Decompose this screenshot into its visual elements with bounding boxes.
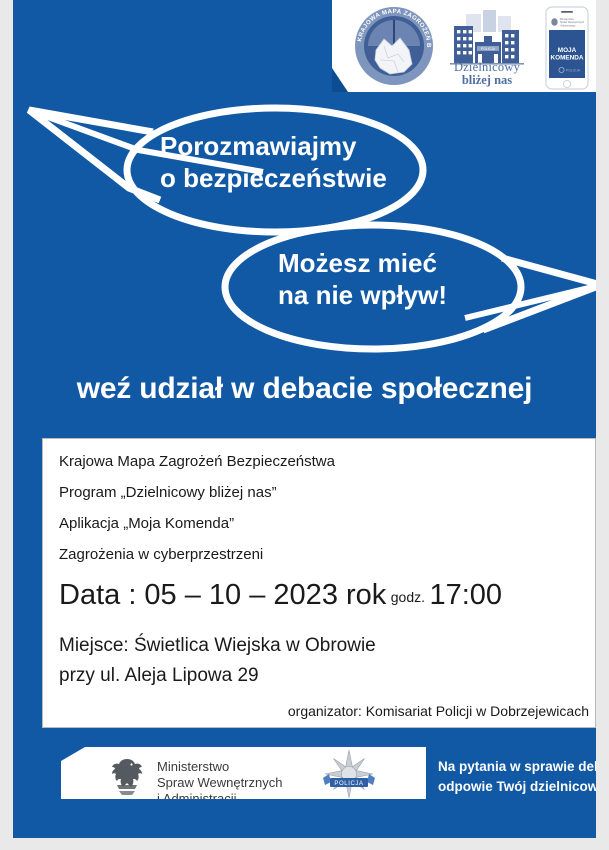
bubble-porozmawiajmy-text: Porozmawiajmy o bezpieczeństwie — [160, 130, 387, 194]
moja-komenda-logo: Ministerstwo Spraw Wewnętrznych i Admini… — [540, 6, 594, 90]
topic-item: Zagrożenia w cyberprzestrzeni — [59, 546, 263, 563]
footer-note-line-2: odpowie Twój dzielnicowy — [438, 777, 596, 797]
svg-text:POLICJA: POLICJA — [566, 69, 581, 73]
bubble2-line2: na nie wpływ! — [278, 279, 447, 311]
time-prefix-label: godz. — [391, 589, 425, 605]
bubble1-line2: o bezpieczeństwie — [160, 162, 387, 194]
krajowa-mapa-zagrozen-bezpieczenstwa-logo: KRAJOWA MAPA ZAGROŻEŃ BEZPIECZEŃSTWA — [354, 6, 434, 86]
topic-item: Krajowa Mapa Zagrożeń Bezpieczeństwa — [59, 453, 335, 470]
svg-text:POLICJA: POLICJA — [481, 47, 496, 51]
place-line-2: przy ul. Aleja Lipowa 29 — [59, 665, 259, 687]
ministry-name: Ministerstwo Spraw Wewnętrznych i Admini… — [157, 759, 282, 807]
poster-canvas: Porozmawiajmy o bezpieczeństwie Możesz m… — [13, 0, 596, 838]
time-value: 17:00 — [429, 579, 502, 611]
smartphone-icon: Ministerstwo Spraw Wewnętrznych i Admini… — [540, 6, 594, 90]
policja-star-badge-icon: POLICJA — [319, 749, 379, 799]
organizer-label: organizator: Komisariat Policji w Dobrze… — [288, 703, 589, 719]
footer-logo-panel: Ministerstwo Spraw Wewnętrznych i Admini… — [61, 747, 426, 799]
ministry-line-3: i Administracji — [157, 791, 282, 807]
kmzb-seal-icon: KRAJOWA MAPA ZAGROŻEŃ BEZPIECZEŃSTWA — [354, 6, 434, 86]
footer-note-line-1: Na pytania w sprawie debaty — [438, 757, 596, 777]
page-headline: weź udział w debacie społecznej — [13, 372, 596, 406]
topic-item: Program „Dzielnicowy bliżej nas” — [59, 484, 277, 501]
footer-note: Na pytania w sprawie debaty odpowie Twój… — [438, 757, 596, 796]
city-buildings-icon: POLICJA — [444, 8, 530, 66]
bubble2-line1: Możesz mieć — [278, 247, 447, 279]
header-logo-band: KRAJOWA MAPA ZAGROŻEŃ BEZPIECZEŃSTWA — [332, 0, 596, 92]
svg-text:i Administracji: i Administracji — [560, 24, 576, 27]
svg-text:MOJA: MOJA — [558, 47, 577, 54]
date-label: Data : 05 – 10 – 2023 rok — [59, 579, 386, 611]
place-line-1: Miejsce: Świetlica Wiejska w Obrowie — [59, 635, 376, 657]
dbn-caption-line2: bliżej nas — [444, 74, 530, 87]
bubble-mozesz-miec-text: Możesz mieć na nie wpływ! — [278, 247, 447, 311]
svg-text:POLICJA: POLICJA — [334, 781, 363, 787]
date-time-row: Data : 05 – 10 – 2023 rok godz. 17:00 — [59, 579, 502, 612]
svg-text:KOMENDA: KOMENDA — [550, 55, 583, 62]
topic-item: Aplikacja „Moja Komenda” — [59, 515, 234, 532]
bubble1-line1: Porozmawiajmy — [160, 130, 387, 162]
dzielnicowy-blizej-nas-logo: POLICJA Dzielnicowy bliżej nas — [444, 8, 530, 88]
info-panel: Krajowa Mapa Zagrożeń Bezpieczeństwa Pro… — [42, 438, 596, 728]
polish-eagle-emblem-icon — [105, 755, 149, 797]
ministry-line-2: Spraw Wewnętrznych — [157, 775, 282, 791]
ministry-line-1: Ministerstwo — [157, 759, 282, 775]
